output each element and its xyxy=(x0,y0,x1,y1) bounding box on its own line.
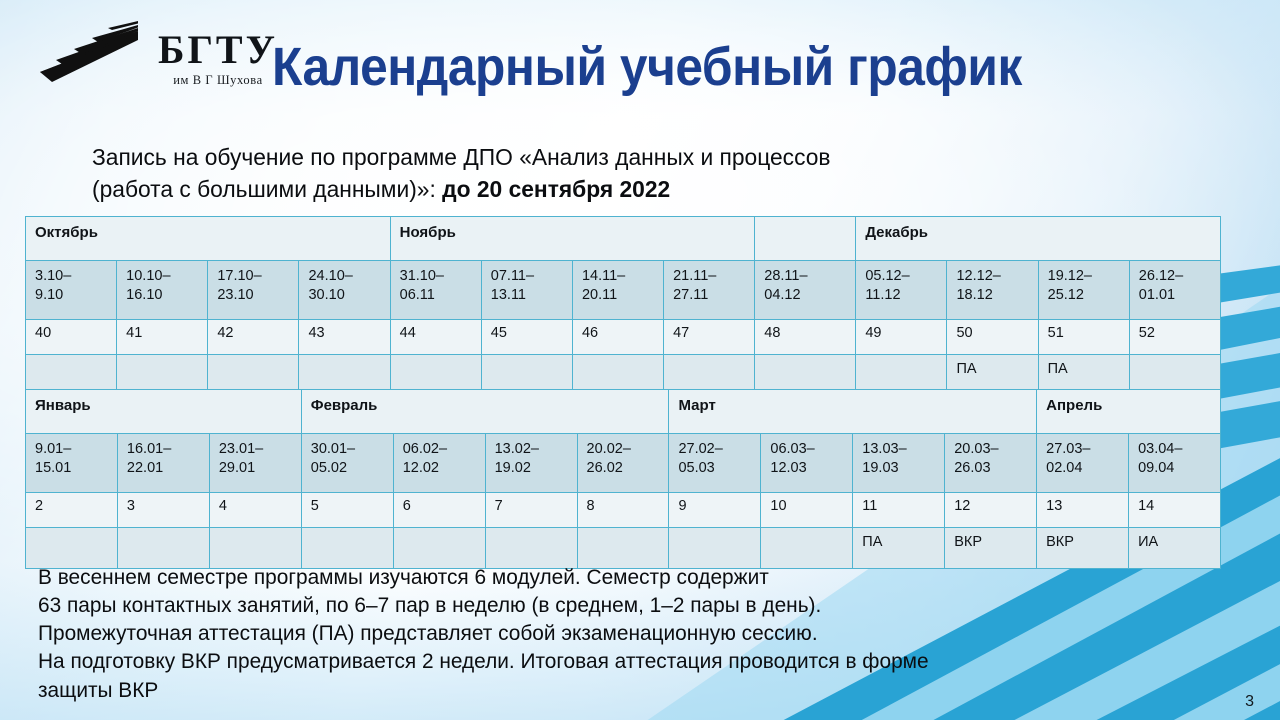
month-header-cell: Январь xyxy=(26,390,302,434)
week-number-cell: 14 xyxy=(1129,493,1221,528)
page-number: 3 xyxy=(1245,693,1254,711)
date-range-row: 3.10– 9.1010.10– 16.1017.10– 23.1024.10–… xyxy=(26,261,1221,320)
week-number-cell: 2 xyxy=(26,493,118,528)
intro-deadline: до 20 сентября 2022 xyxy=(442,176,670,202)
date-range-cell: 28.11– 04.12 xyxy=(755,261,856,320)
month-header-cell: Февраль xyxy=(301,390,669,434)
date-range-cell: 20.03– 26.03 xyxy=(945,434,1037,493)
date-range-cell: 27.02– 05.03 xyxy=(669,434,761,493)
date-range-cell: 19.12– 25.12 xyxy=(1038,261,1129,320)
week-number-cell: 11 xyxy=(853,493,945,528)
date-range-row: 9.01– 15.0116.01– 22.0123.01– 29.0130.01… xyxy=(26,434,1221,493)
note-line-4: На подготовку ВКР предусматривается 2 не… xyxy=(38,647,1173,675)
date-range-cell: 20.02– 26.02 xyxy=(577,434,669,493)
date-range-cell: 24.10– 30.10 xyxy=(299,261,390,320)
month-header-cell: Ноябрь xyxy=(390,217,755,261)
month-header-row: ЯнварьФевральМартАпрель xyxy=(26,390,1221,434)
week-number-row: 40414243444546474849505152 xyxy=(26,320,1221,355)
week-number-cell: 48 xyxy=(755,320,856,355)
month-header-cell: Октябрь xyxy=(26,217,391,261)
week-number-cell: 50 xyxy=(947,320,1038,355)
week-number-cell: 10 xyxy=(761,493,853,528)
week-number-cell: 46 xyxy=(572,320,663,355)
week-number-cell: 13 xyxy=(1037,493,1129,528)
date-range-cell: 23.01– 29.01 xyxy=(209,434,301,493)
date-range-cell: 27.03– 02.04 xyxy=(1037,434,1129,493)
intro-line-1: Запись на обучение по программе ДПО «Ана… xyxy=(92,144,831,170)
vesenniy-semestr-table: ЯнварьФевральМартАпрель9.01– 15.0116.01–… xyxy=(25,389,1221,569)
date-range-cell: 9.01– 15.01 xyxy=(26,434,118,493)
logo-subtitle: им В Г Шухова xyxy=(173,74,263,87)
logo-wordmark: БГТУ им В Г Шухова xyxy=(158,26,278,87)
month-header-cell: Декабрь xyxy=(856,217,1221,261)
month-header-cell-empty xyxy=(755,217,856,261)
notes-block: В весеннем семестре программы изучаются … xyxy=(38,563,1173,704)
date-range-cell: 16.01– 22.01 xyxy=(117,434,209,493)
logo-abbr: БГТУ xyxy=(158,30,278,70)
date-range-cell: 26.12– 01.01 xyxy=(1129,261,1220,320)
week-number-cell: 40 xyxy=(26,320,117,355)
week-number-cell: 7 xyxy=(485,493,577,528)
week-number-cell: 3 xyxy=(117,493,209,528)
month-header-cell: Апрель xyxy=(1037,390,1221,434)
month-header-row: ОктябрьНоябрьДекабрь xyxy=(26,217,1221,261)
date-range-cell: 06.03– 12.03 xyxy=(761,434,853,493)
week-number-cell: 41 xyxy=(117,320,208,355)
week-number-cell: 47 xyxy=(664,320,755,355)
week-number-cell: 42 xyxy=(208,320,299,355)
week-number-cell: 8 xyxy=(577,493,669,528)
date-range-cell: 10.10– 16.10 xyxy=(117,261,208,320)
date-range-cell: 31.10– 06.11 xyxy=(390,261,481,320)
date-range-cell: 3.10– 9.10 xyxy=(26,261,117,320)
date-range-cell: 21.11– 27.11 xyxy=(664,261,755,320)
note-line-3: Промежуточная аттестация (ПА) представля… xyxy=(38,619,1173,647)
date-range-cell: 07.11– 13.11 xyxy=(481,261,572,320)
week-number-cell: 4 xyxy=(209,493,301,528)
intro-line-2-prefix: (работа с большими данными)»: xyxy=(92,176,442,202)
osenniy-semestr-table: ОктябрьНоябрьДекабрь3.10– 9.1010.10– 16.… xyxy=(25,216,1221,396)
slide-root: БГТУ им В Г Шухова Календарный учебный г… xyxy=(0,0,1280,720)
week-number-row: 234567891011121314 xyxy=(26,493,1221,528)
date-range-cell: 05.12– 11.12 xyxy=(856,261,947,320)
week-number-cell: 52 xyxy=(1129,320,1220,355)
week-number-cell: 12 xyxy=(945,493,1037,528)
date-range-cell: 14.11– 20.11 xyxy=(572,261,663,320)
note-line-5: защиты ВКР xyxy=(38,676,1173,704)
date-range-cell: 17.10– 23.10 xyxy=(208,261,299,320)
week-number-cell: 6 xyxy=(393,493,485,528)
week-number-cell: 44 xyxy=(390,320,481,355)
note-line-1: В весеннем семестре программы изучаются … xyxy=(38,563,1173,591)
intro-paragraph: Запись на обучение по программе ДПО «Ана… xyxy=(92,142,1178,206)
page-title: Календарный учебный график xyxy=(272,36,1022,98)
bgtu-shukhov-wedges-logo-icon xyxy=(38,16,146,96)
week-number-cell: 5 xyxy=(301,493,393,528)
date-range-cell: 13.02– 19.02 xyxy=(485,434,577,493)
week-number-cell: 49 xyxy=(856,320,947,355)
week-number-cell: 45 xyxy=(481,320,572,355)
university-logo: БГТУ им В Г Шухова xyxy=(38,16,278,96)
week-number-cell: 51 xyxy=(1038,320,1129,355)
slide-header: БГТУ им В Г Шухова Календарный учебный г… xyxy=(0,0,1280,120)
month-header-cell: Март xyxy=(669,390,1037,434)
date-range-cell: 03.04– 09.04 xyxy=(1129,434,1221,493)
date-range-cell: 12.12– 18.12 xyxy=(947,261,1038,320)
date-range-cell: 06.02– 12.02 xyxy=(393,434,485,493)
week-number-cell: 43 xyxy=(299,320,390,355)
date-range-cell: 13.03– 19.03 xyxy=(853,434,945,493)
date-range-cell: 30.01– 05.02 xyxy=(301,434,393,493)
week-number-cell: 9 xyxy=(669,493,761,528)
note-line-2: 63 пары контактных занятий, по 6–7 пар в… xyxy=(38,591,1173,619)
